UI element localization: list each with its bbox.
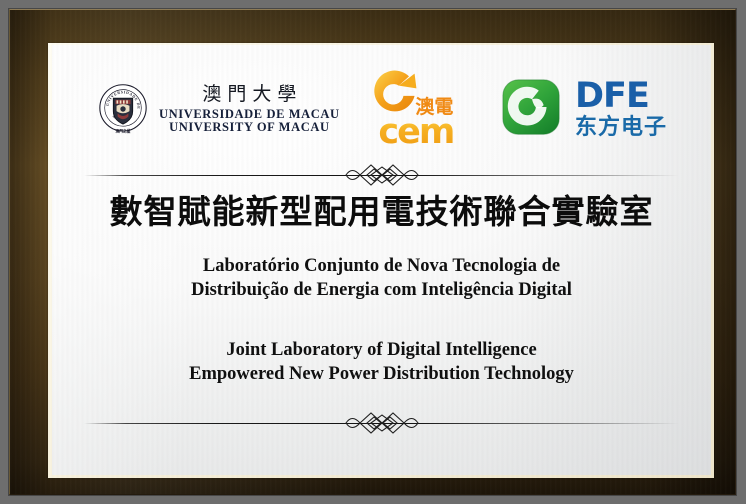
ornament-icon: [334, 408, 430, 438]
um-chinese-name: 澳門大學: [196, 85, 302, 104]
dfe-wordmark: DFE: [575, 79, 667, 114]
divider-bottom: [84, 408, 679, 438]
title-english-line-2: Empowered New Power Distribution Technol…: [52, 362, 711, 386]
um-english-name: UNIVERSITY OF MACAU: [169, 121, 329, 134]
title-chinese: 數智賦能新型配用電技術聯合實驗室: [52, 185, 711, 233]
title-portuguese: Laboratório Conjunto de Nova Tecnologia …: [52, 254, 711, 302]
dfe-chinese-name: 东方电子: [575, 117, 667, 139]
um-portuguese-name: UNIVERSIDADE DE MACAU: [159, 108, 340, 121]
screenshot-root: UNIVERSIDADE DE MACAU 澳門大學: [0, 0, 746, 504]
logo-cem: 澳電 cem: [360, 66, 472, 152]
dfe-mark-icon: [499, 77, 565, 141]
um-crest-icon: UNIVERSIDADE DE MACAU 澳門大學: [96, 81, 150, 137]
title-english: Joint Laboratory of Digital Intelligence…: [52, 338, 711, 386]
logo-dfe: DFE 东方电子: [499, 77, 667, 141]
plaque-plate: UNIVERSIDADE DE MACAU 澳門大學: [52, 45, 711, 475]
picture-frame: UNIVERSIDADE DE MACAU 澳門大學: [9, 9, 736, 495]
title-portuguese-line-1: Laboratório Conjunto de Nova Tecnologia …: [52, 254, 711, 278]
svg-text:澳門之星: 澳門之星: [115, 129, 130, 134]
title-english-line-1: Joint Laboratory of Digital Intelligence: [52, 338, 711, 362]
cem-wordmark: cem: [378, 112, 453, 152]
logo-university-of-macau: UNIVERSIDADE DE MACAU 澳門大學: [96, 81, 340, 137]
logo-row: UNIVERSIDADE DE MACAU 澳門大學: [52, 61, 711, 157]
title-portuguese-line-2: Distribuição de Energia com Inteligência…: [52, 278, 711, 302]
